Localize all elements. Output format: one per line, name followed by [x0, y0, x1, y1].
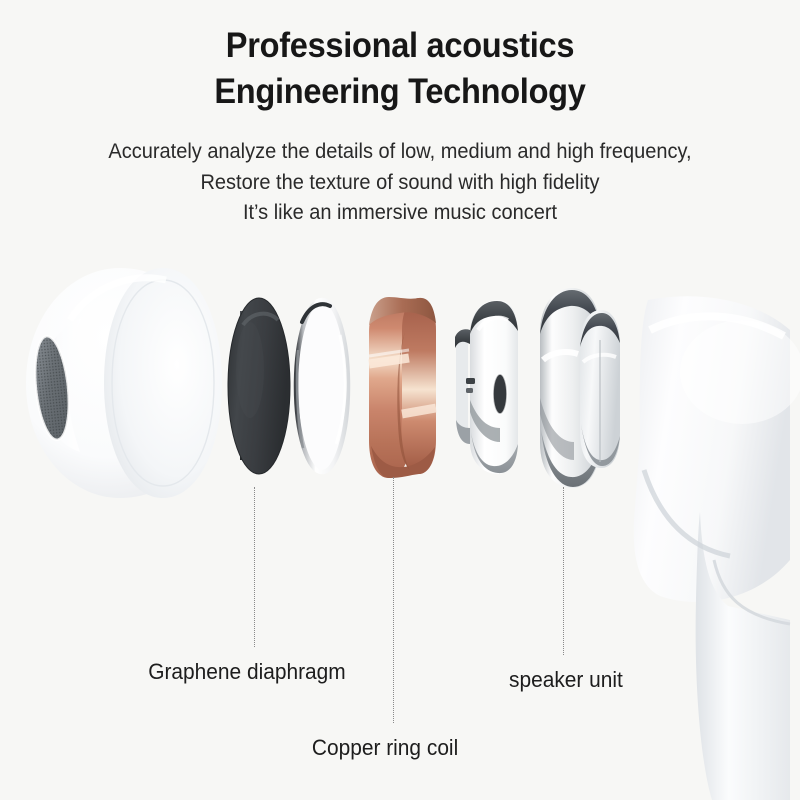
- leader-line-speaker: [563, 487, 564, 655]
- exploded-view-diagram: [0, 0, 800, 800]
- part-speaker-unit: [540, 288, 620, 488]
- part-magnet-assembly: [455, 300, 518, 474]
- part-graphene-diaphragm: [228, 298, 290, 474]
- label-copper-ring-coil: Copper ring coil: [312, 735, 458, 761]
- part-copper-ring-coil: [369, 297, 436, 478]
- part-earphone-body: [634, 296, 800, 800]
- leader-line-copper: [393, 477, 394, 723]
- product-infographic: Professional acoustics Engineering Techn…: [0, 0, 800, 800]
- leader-line-graphene: [254, 487, 255, 647]
- label-graphene-diaphragm: Graphene diaphragm: [148, 659, 346, 685]
- label-speaker-unit: speaker unit: [509, 667, 623, 693]
- part-ear-tip: [26, 268, 222, 498]
- part-chrome-ring: [296, 300, 348, 472]
